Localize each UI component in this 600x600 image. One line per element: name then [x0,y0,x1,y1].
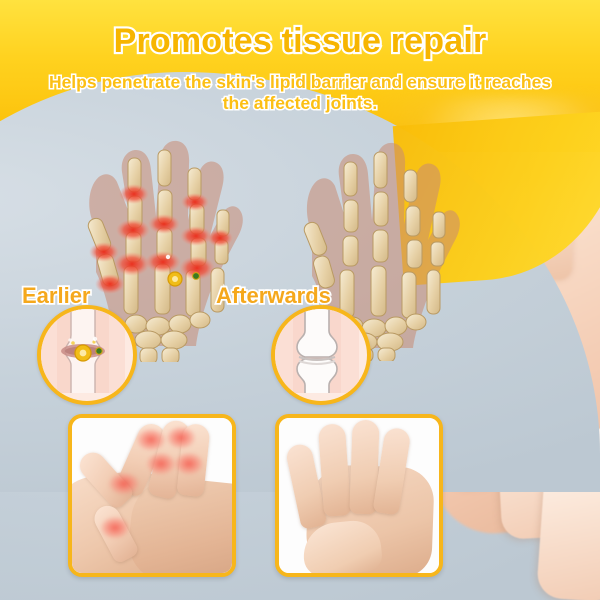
photo-card-before [68,414,236,577]
before-inflamed-knuckle-4 [172,452,206,478]
page-title: Promotes tissue repair [0,22,600,61]
photo-after-image [279,418,439,573]
joint-inflamed-icon [41,309,125,393]
before-inflamed-knuckle-2 [164,426,198,452]
joint-inset-afterwards [271,305,371,405]
joint-healthy-icon [275,309,359,393]
promo-poster: Promotes tissue repair Helps penetrate t… [0,0,600,600]
page-subtitle: Helps penetrate the skin's lipid barrier… [40,72,560,114]
joint-inset-earlier [37,305,137,405]
before-inflamed-knuckle-5 [106,472,142,498]
before-inflamed-knuckle-6 [98,516,132,542]
photo-before-image [72,418,232,573]
before-inflamed-knuckle-1 [134,428,168,454]
photo-card-after [275,414,443,577]
after-finger-2 [318,423,351,517]
